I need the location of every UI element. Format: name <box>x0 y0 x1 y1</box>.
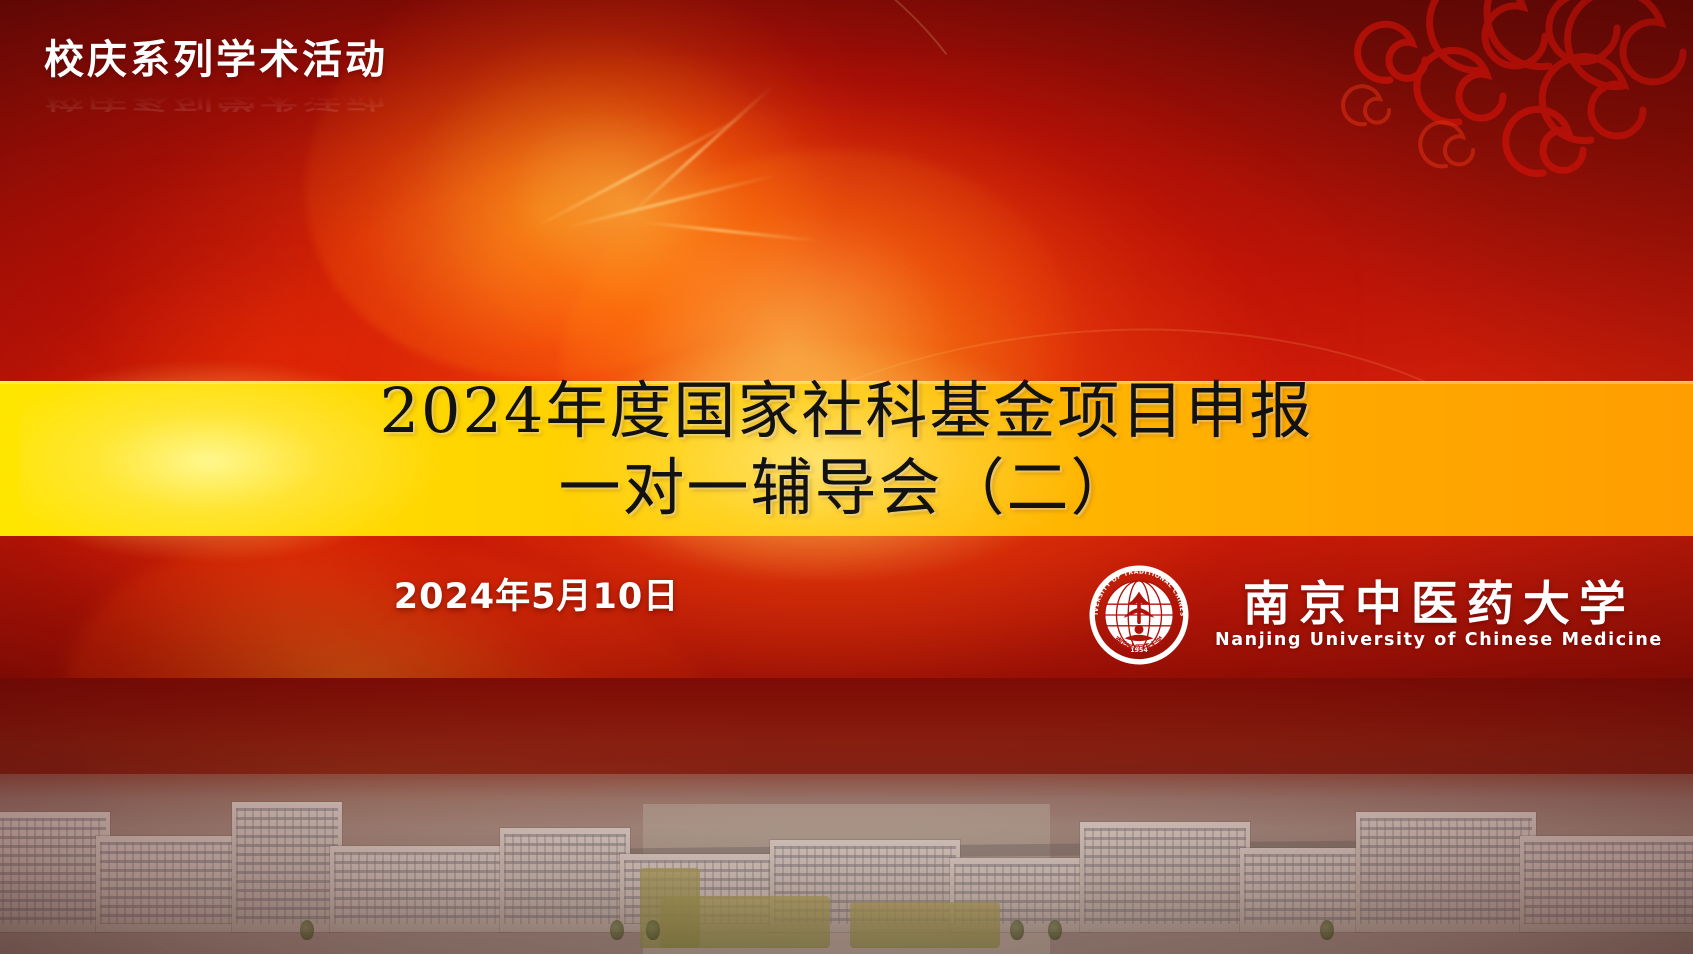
kicker-reflection: 校庆系列学术活动 <box>44 88 464 112</box>
university-seal-icon: NANJING UNIVERSITY OF TRADITIONAL CHINES… <box>1085 561 1193 669</box>
university-name-en: Nanjing University of Chinese Medicine <box>1215 632 1663 650</box>
kicker-block: 校庆系列学术活动 校庆系列学术活动 <box>44 38 464 156</box>
presentation-title-slide: 校庆系列学术活动 校庆系列学术活动 2024年度国家社科基金项目申报 一对一辅导… <box>0 0 1693 954</box>
kicker-text: 校庆系列学术活动 <box>44 38 464 82</box>
title-line-2: 一对一辅导会（二） <box>0 449 1693 526</box>
page-title: 2024年度国家社科基金项目申报 一对一辅导会（二） <box>0 372 1693 526</box>
university-logo: NANJING UNIVERSITY OF TRADITIONAL CHINES… <box>1085 561 1663 669</box>
seal-year: 1954 <box>1130 647 1148 654</box>
university-name-cn: 南京中医药大学 <box>1243 581 1635 628</box>
title-line-1: 2024年度国家社科基金项目申报 <box>0 372 1693 449</box>
university-name-block: 南京中医药大学 Nanjing University of Chinese Me… <box>1215 581 1663 650</box>
